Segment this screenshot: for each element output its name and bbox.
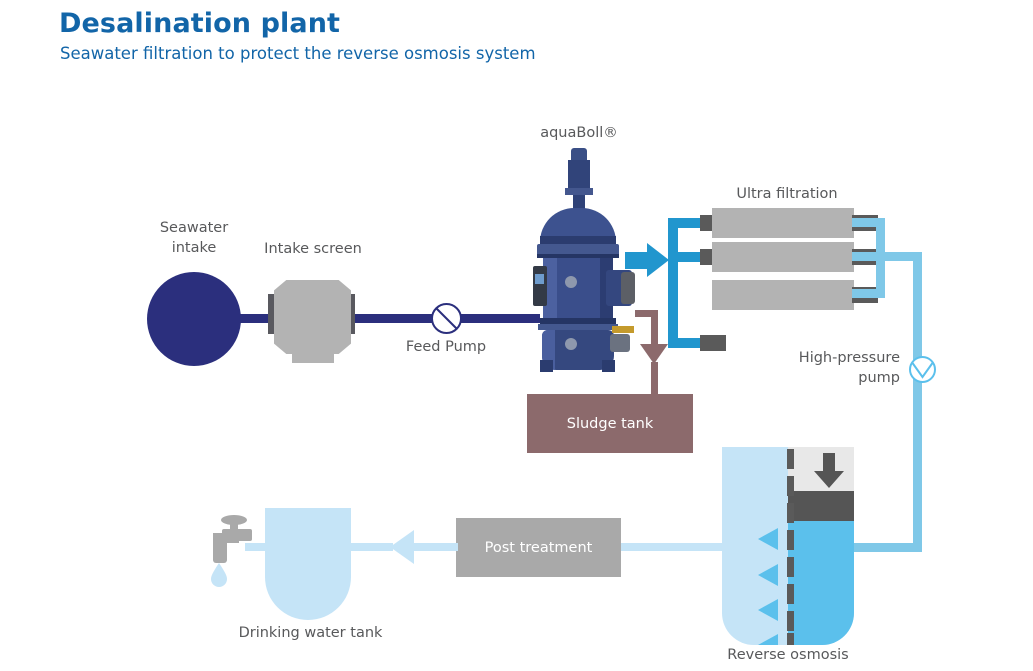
aquaboll-filter-unit — [520, 148, 638, 366]
page-title: Desalination plant — [59, 8, 340, 39]
intake-screen-base — [292, 352, 334, 363]
ro-membrane-segment — [787, 530, 794, 550]
ro-membrane-segment — [787, 449, 794, 469]
ro-piston-band — [788, 491, 854, 521]
ro-membrane-segment — [787, 633, 794, 645]
ro-permeate-arrow-icon — [758, 564, 778, 586]
ro-membrane-segment — [787, 611, 794, 631]
flow-arrow-to-tank-icon — [390, 530, 414, 564]
pipe-aquaboll-to-uf — [625, 252, 647, 269]
uf-module-3-cap-left — [700, 335, 726, 351]
sludge-tank-label: Sludge tank — [567, 416, 654, 432]
drinking-water-tank-label: Drinking water tank — [238, 623, 383, 643]
reverse-osmosis-label: Reverse osmosis — [718, 645, 858, 665]
post-treatment-label: Post treatment — [485, 540, 593, 556]
ro-membrane-segment — [787, 557, 794, 577]
uf-out-1 — [852, 218, 885, 227]
feed-pump-icon — [431, 303, 462, 334]
high-pressure-pump-label: High-pressure pump — [760, 348, 900, 388]
intake-screen-vessel — [274, 280, 351, 354]
ro-permeate-arrow-icon — [758, 634, 778, 645]
diagram-canvas: Desalination plant Seawater filtration t… — [0, 0, 1033, 671]
uf-module-1 — [712, 208, 854, 238]
pipe-sludge-vertical-bottom — [651, 362, 658, 398]
pipe-hp-riser — [913, 252, 922, 552]
high-pressure-pump-icon — [909, 356, 936, 383]
pipe-sludge-vertical-top — [651, 310, 658, 344]
seawater-intake-label: Seawater intake — [134, 218, 254, 258]
uf-out-2 — [852, 252, 885, 261]
uf-module-3 — [712, 280, 854, 310]
pipe-to-drinking-tank — [351, 543, 393, 551]
ro-membrane-segment — [787, 584, 794, 604]
drinking-water-tank — [265, 508, 351, 620]
uf-out-3 — [852, 289, 885, 298]
page-subtitle: Seawater filtration to protect the rever… — [60, 44, 536, 63]
uf-inlet-header — [668, 218, 678, 348]
pipe-post-treatment-to-tank — [412, 543, 458, 551]
ro-permeate-arrow-icon — [758, 528, 778, 550]
flow-arrow-to-sludge-icon — [640, 344, 668, 364]
feed-pump-label: Feed Pump — [385, 337, 507, 357]
ro-membrane-segment — [787, 503, 794, 523]
ro-permeate-arrow-icon — [758, 599, 778, 621]
uf-module-2 — [712, 242, 854, 272]
water-drop-icon — [209, 562, 229, 588]
ultra-filtration-label: Ultra filtration — [714, 184, 860, 204]
flow-arrow-to-uf-icon — [647, 243, 669, 277]
post-treatment-unit: Post treatment — [456, 518, 621, 577]
seawater-intake-vessel — [147, 272, 241, 366]
sludge-tank: Sludge tank — [527, 394, 693, 453]
ro-membrane-segment — [787, 476, 794, 496]
intake-screen-label: Intake screen — [243, 239, 383, 259]
pipe-hp-to-ro — [854, 543, 922, 552]
aquaboll-label: aquaBoll® — [509, 123, 649, 143]
down-arrow-icon — [812, 453, 846, 489]
reverse-osmosis-vessel — [722, 447, 854, 645]
pipe-ro-to-post-treatment — [621, 543, 723, 551]
